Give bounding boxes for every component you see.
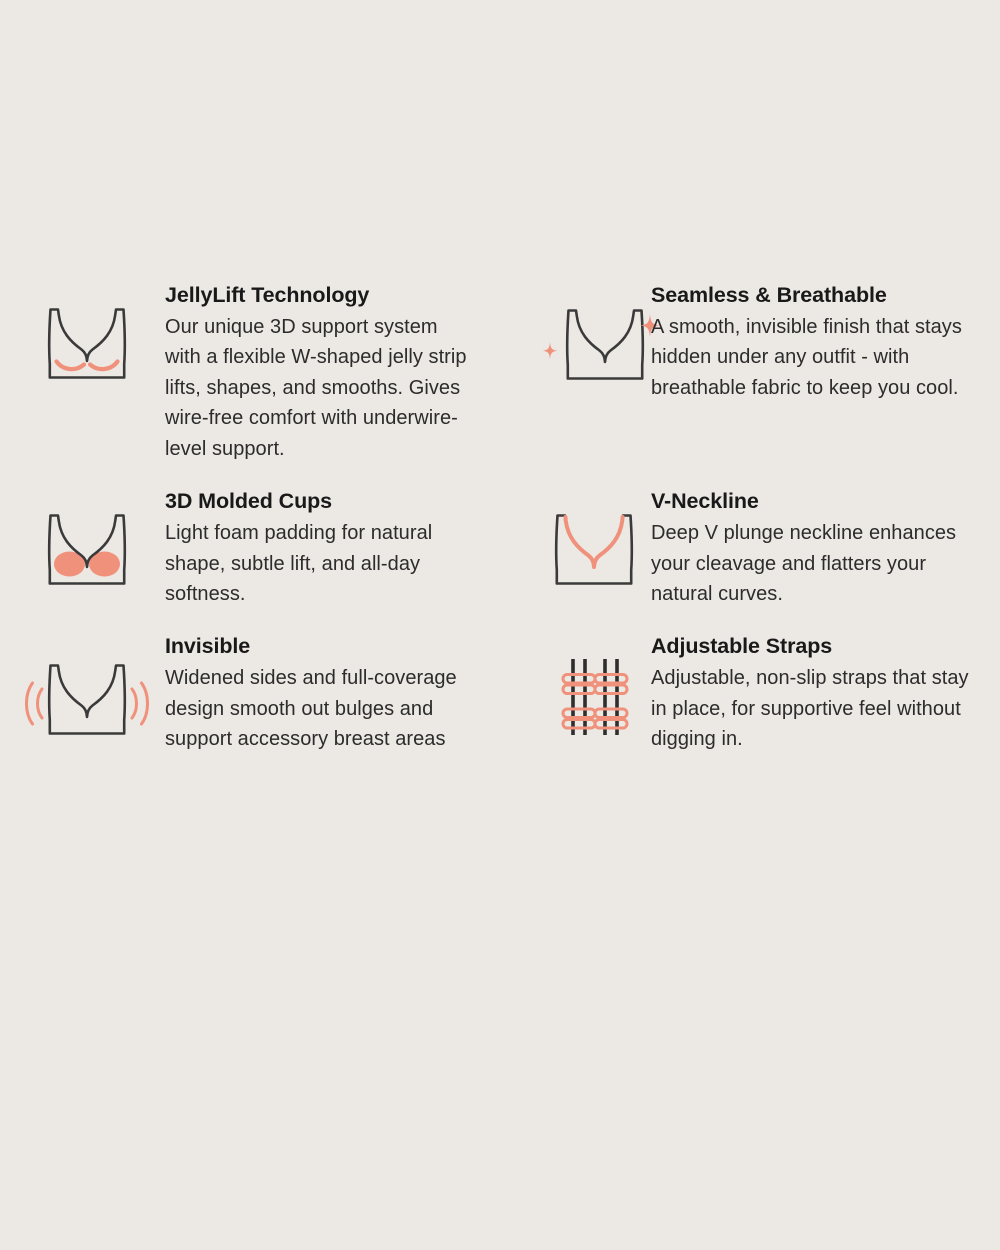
- bra-jelly-strip-icon: [0, 282, 165, 386]
- feature-text-block: 3D Molded Cups Light foam padding for na…: [165, 488, 475, 609]
- feature-description: Deep V plunge neckline enhances your cle…: [651, 518, 981, 609]
- feature-title: 3D Molded Cups: [165, 488, 475, 515]
- feature-card-v-neckline: V-Neckline Deep V plunge neckline enhanc…: [536, 488, 1000, 609]
- feature-text-block: V-Neckline Deep V plunge neckline enhanc…: [651, 488, 981, 609]
- adjustable-straps-icon: [536, 633, 651, 739]
- feature-title: JellyLift Technology: [165, 282, 475, 309]
- feature-card-invisible: Invisible Widened sides and full-coverag…: [0, 633, 536, 754]
- feature-text-block: JellyLift Technology Our unique 3D suppo…: [165, 282, 475, 464]
- feature-title: Invisible: [165, 633, 475, 660]
- bra-molded-cups-icon: [0, 488, 165, 592]
- feature-card-jellylift-technology: JellyLift Technology Our unique 3D suppo…: [0, 282, 536, 464]
- feature-card-seamless-breathable: Seamless & Breathable A smooth, invisibl…: [536, 282, 1000, 464]
- feature-text-block: Adjustable Straps Adjustable, non-slip s…: [651, 633, 981, 754]
- bra-invisible-waves-icon: [0, 633, 165, 743]
- feature-description: Light foam padding for natural shape, su…: [165, 518, 475, 609]
- feature-text-block: Seamless & Breathable A smooth, invisibl…: [651, 282, 981, 403]
- bra-sparkle-icon: [536, 282, 651, 388]
- feature-card-3d-molded-cups: 3D Molded Cups Light foam padding for na…: [0, 488, 536, 609]
- feature-description: A smooth, invisible finish that stays hi…: [651, 312, 981, 403]
- feature-card-adjustable-straps: Adjustable Straps Adjustable, non-slip s…: [536, 633, 1000, 754]
- feature-description: Our unique 3D support system with a flex…: [165, 312, 475, 464]
- feature-grid: JellyLift Technology Our unique 3D suppo…: [0, 282, 1000, 755]
- feature-title: Adjustable Straps: [651, 633, 981, 660]
- feature-title: Seamless & Breathable: [651, 282, 981, 309]
- feature-description: Adjustable, non-slip straps that stay in…: [651, 663, 981, 754]
- bra-v-neckline-icon: [536, 488, 651, 592]
- feature-title: V-Neckline: [651, 488, 981, 515]
- feature-highlights-page: JellyLift Technology Our unique 3D suppo…: [0, 0, 1000, 1250]
- feature-text-block: Invisible Widened sides and full-coverag…: [165, 633, 475, 754]
- feature-description: Widened sides and full-coverage design s…: [165, 663, 475, 754]
